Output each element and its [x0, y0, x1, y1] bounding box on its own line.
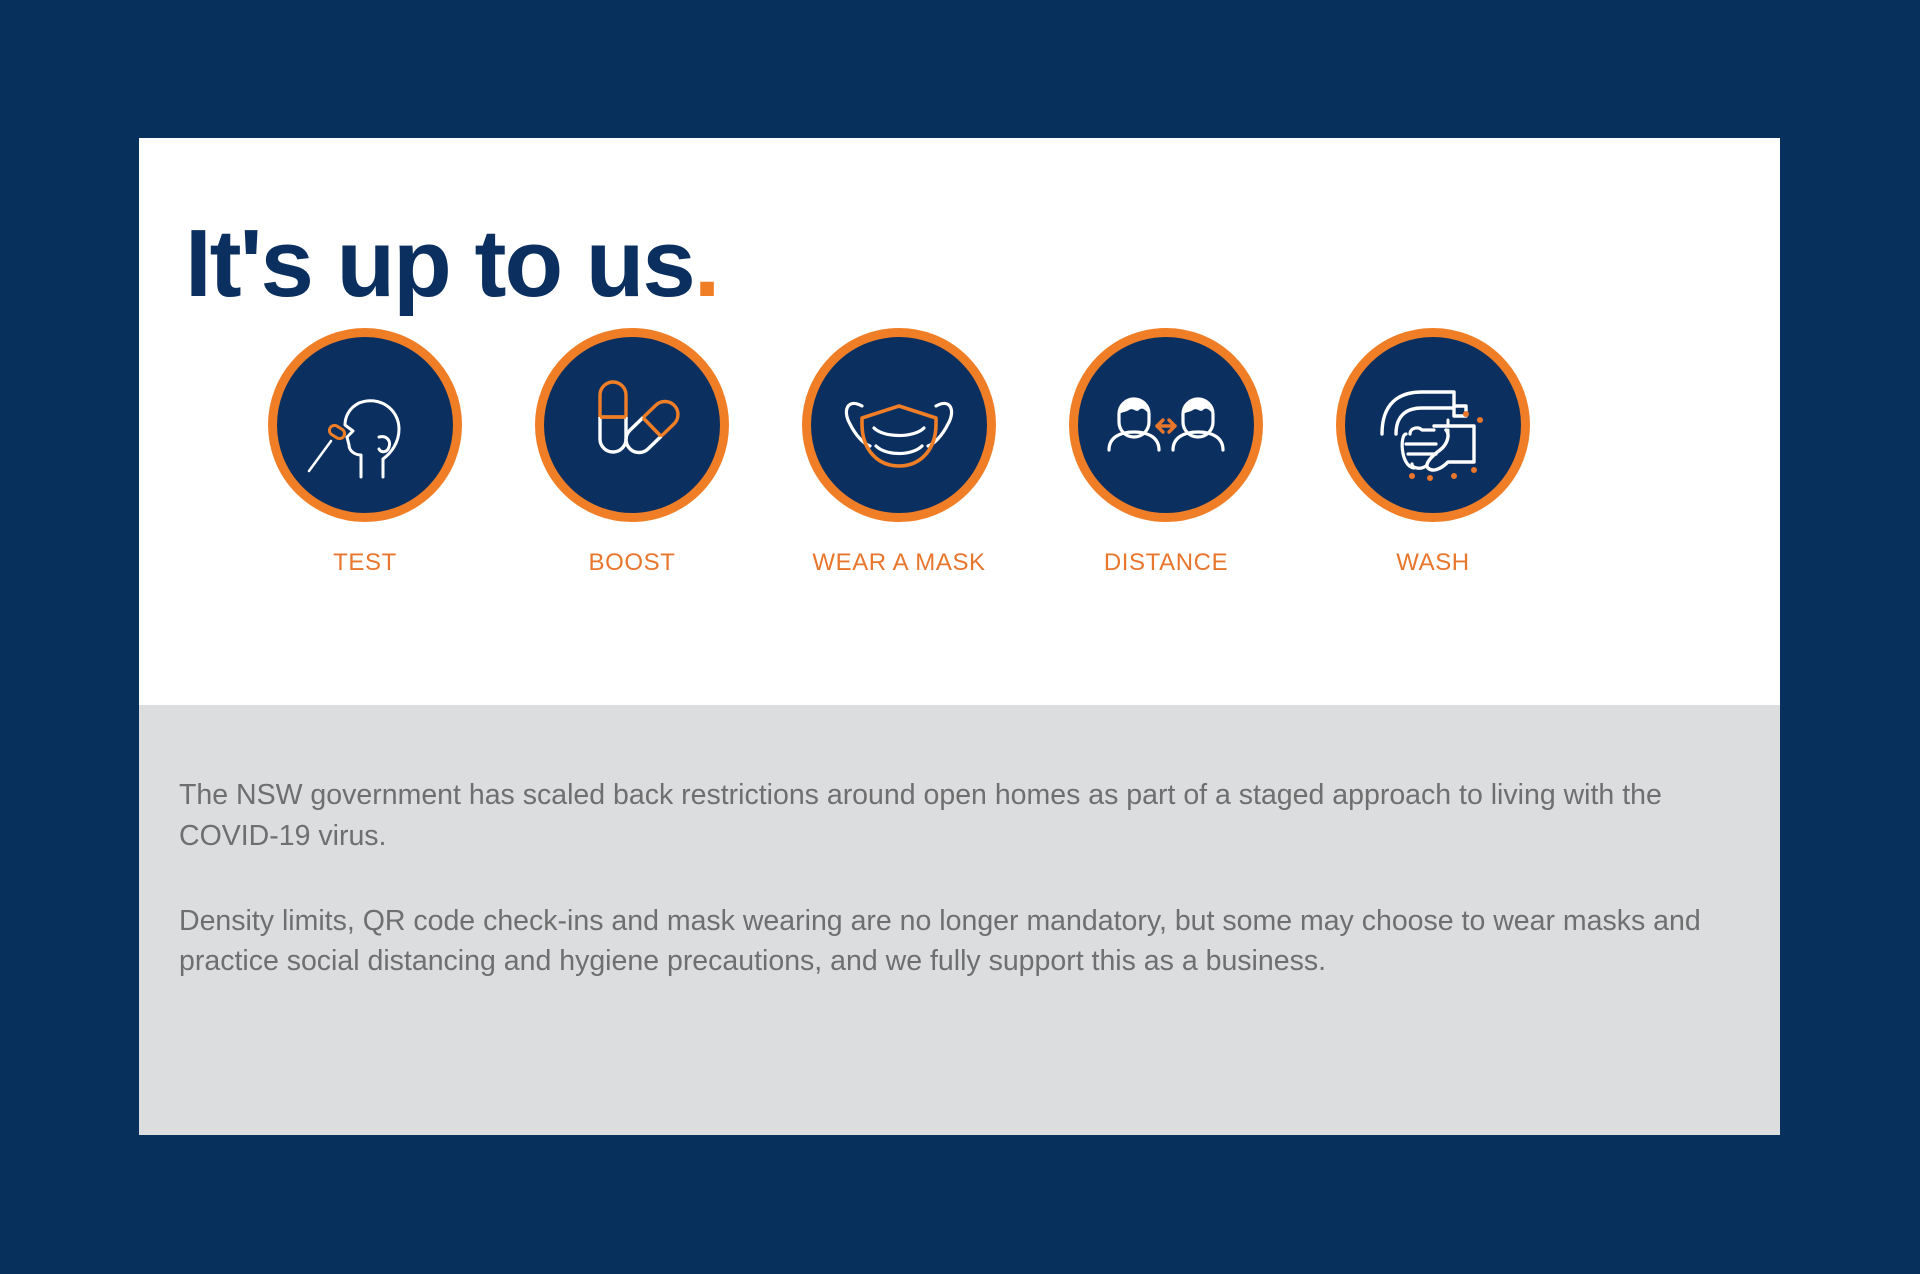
measure-circle-boost — [535, 328, 729, 522]
nasal-swab-test-icon — [305, 365, 425, 485]
measure-circle-test — [268, 328, 462, 522]
measure-label-wash: WASH — [1396, 549, 1470, 577]
measure-item-test[interactable]: TEST — [249, 328, 481, 577]
capsule-pills-icon — [572, 365, 692, 485]
headline-text: It's up to us — [185, 210, 694, 317]
measure-label-boost: BOOST — [588, 549, 675, 577]
measure-item-distance[interactable]: DISTANCE — [1050, 328, 1282, 577]
measure-label-distance: DISTANCE — [1104, 549, 1228, 577]
hand-washing-tap-icon — [1370, 362, 1496, 488]
page-title: It's up to us. — [185, 216, 718, 312]
safety-measures-row: TEST — [249, 328, 1549, 577]
measure-label-wear-a-mask: WEAR A MASK — [812, 549, 985, 577]
measure-circle-wash — [1336, 328, 1530, 522]
description-paragraph-2: Density limits, QR code check-ins and ma… — [179, 901, 1727, 983]
description-panel: The NSW government has scaled back restr… — [139, 705, 1780, 1135]
poster-canvas: It's up to us. TEST — [0, 0, 1920, 1274]
measure-item-boost[interactable]: BOOST — [516, 328, 748, 577]
content-card: It's up to us. TEST — [139, 138, 1780, 1135]
description-text: The NSW government has scaled back restr… — [179, 775, 1727, 982]
measure-circle-distance — [1069, 328, 1263, 522]
headline-period: . — [694, 210, 719, 317]
measure-circle-wear-a-mask — [802, 328, 996, 522]
face-mask-icon — [836, 362, 962, 488]
measure-item-wear-a-mask[interactable]: WEAR A MASK — [783, 328, 1015, 577]
social-distance-icon — [1103, 362, 1229, 488]
description-paragraph-1: The NSW government has scaled back restr… — [179, 775, 1727, 857]
measure-item-wash[interactable]: WASH — [1317, 328, 1549, 577]
measure-label-test: TEST — [333, 549, 397, 577]
